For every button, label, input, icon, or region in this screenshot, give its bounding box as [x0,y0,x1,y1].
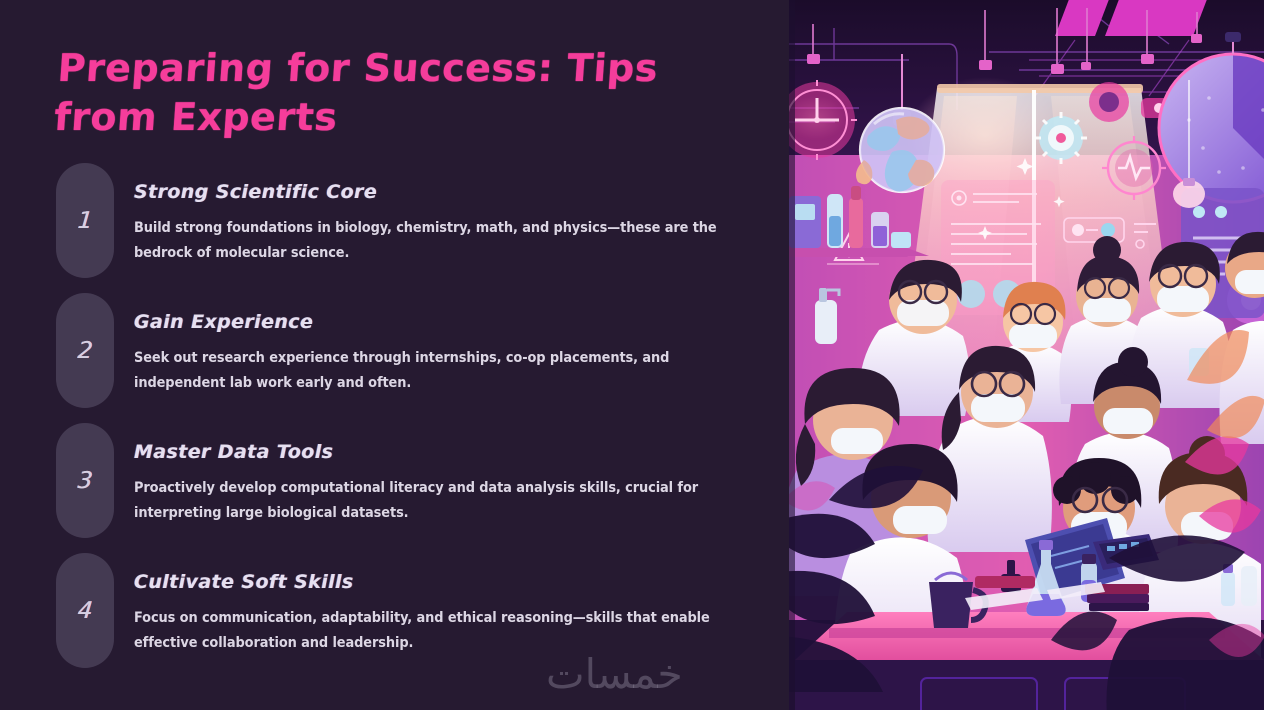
donut-icon [1089,82,1129,122]
tip-number-badge: 4 [56,553,114,668]
tip-heading: Gain Experience [134,311,754,333]
tip-number-badge: 1 [56,163,114,278]
tip-number: 2 [77,338,94,364]
tip-number: 3 [77,468,94,494]
tip-description: Proactively develop computational litera… [134,476,719,526]
tip-description: Focus on communication, adaptability, an… [134,606,719,656]
watermark: خمسات [546,650,683,698]
page-title: Preparing for Success: Tips from Experts [53,44,720,142]
tip-content: Cultivate Soft Skills Focus on communica… [134,571,754,656]
tip-content: Master Data Tools Proactively develop co… [134,441,754,526]
tip-heading: Master Data Tools [134,441,754,463]
list-item[interactable]: 2 Gain Experience Seek out research expe… [56,293,756,423]
list-item[interactable]: 3 Master Data Tools Proactively develop … [56,423,756,553]
tip-content: Gain Experience Seek out research experi… [134,311,754,396]
tip-heading: Strong Scientific Core [134,181,754,203]
tip-number-badge: 2 [56,293,114,408]
tip-description: Build strong foundations in biology, che… [134,216,719,266]
tip-number: 1 [77,208,94,234]
laboratory-illustration [789,0,1264,710]
tip-content: Strong Scientific Core Build strong foun… [134,181,754,266]
content-panel: Preparing for Success: Tips from Experts… [0,0,789,710]
tip-heading: Cultivate Soft Skills [134,571,754,593]
tip-number: 4 [77,598,94,624]
tip-description: Seek out research experience through int… [134,346,719,396]
list-item[interactable]: 1 Strong Scientific Core Build strong fo… [56,163,756,293]
tip-number-badge: 3 [56,423,114,538]
tips-list: 1 Strong Scientific Core Build strong fo… [56,163,756,683]
slide-root: Preparing for Success: Tips from Experts… [0,0,1264,710]
